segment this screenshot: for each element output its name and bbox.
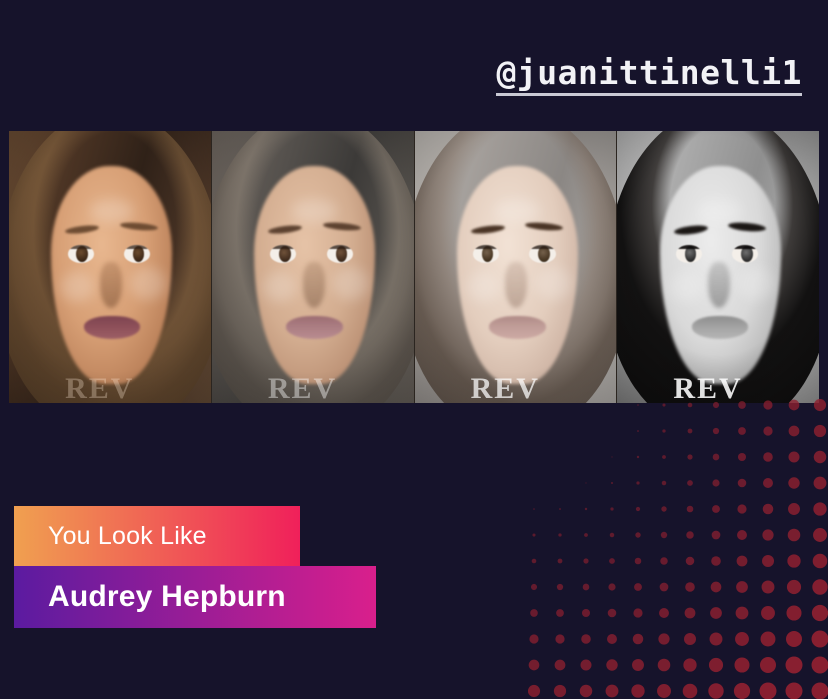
result-name-text: Audrey Hepburn — [48, 580, 286, 614]
morph-panel-2: REV — [212, 131, 414, 403]
morph-panel-3: REV — [415, 131, 617, 403]
morph-strip[interactable]: REV REV — [9, 131, 819, 403]
vignette-overlay — [9, 131, 211, 403]
result-label-banner: You Look Like — [14, 506, 300, 566]
morph-panel-4: REV — [617, 131, 819, 403]
result-name-banner: Audrey Hepburn — [14, 566, 376, 628]
vignette-overlay — [415, 131, 617, 403]
halftone-dots-decoration — [528, 399, 828, 699]
story-card: @juanittinelli1 REV — [0, 0, 828, 699]
vignette-overlay — [617, 131, 819, 403]
username-handle[interactable]: @juanittinelli1 — [496, 52, 802, 100]
vignette-overlay — [212, 131, 414, 403]
username-handle-text: @juanittinelli1 — [496, 56, 802, 97]
result-label-text: You Look Like — [48, 522, 207, 551]
morph-panel-1: REV — [9, 131, 211, 403]
